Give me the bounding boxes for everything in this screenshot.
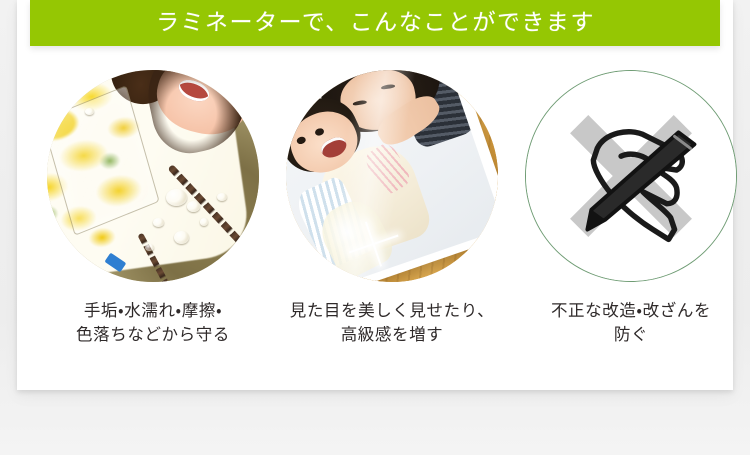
content-card: ラミネーターで、こんなことができます bbox=[17, 0, 733, 390]
photo-water-drop bbox=[187, 201, 200, 212]
caption-line: 高級感を増す bbox=[290, 323, 495, 347]
feature-image-appearance bbox=[286, 70, 498, 282]
feature-item-protect: 手垢・水濡れ・摩擦・ 色落ちなどから守る bbox=[42, 70, 264, 347]
photo-laminated-family-photo-on-wood-table bbox=[286, 70, 498, 282]
feature-image-anti-tamper bbox=[525, 70, 737, 282]
caption-line: 不正な改造・改ざんを bbox=[551, 299, 711, 323]
caption-line: 防ぐ bbox=[551, 323, 711, 347]
photo-water-drop bbox=[166, 189, 187, 206]
feature-item-anti-tamper: 不正な改造・改ざんを 防ぐ bbox=[520, 70, 742, 347]
photo-water-drop bbox=[200, 218, 208, 225]
feature-caption-anti-tamper: 不正な改造・改ざんを 防ぐ bbox=[551, 299, 711, 347]
photo-water-drop bbox=[174, 231, 189, 244]
photo-water-drop bbox=[153, 218, 164, 226]
page-root: ラミネーターで、こんなことができます bbox=[0, 0, 750, 455]
feature-image-protect bbox=[47, 70, 259, 282]
section-header-banner: ラミネーターで、こんなことができます bbox=[30, 0, 720, 46]
caption-line: 見た目を美しく見せたり、 bbox=[290, 299, 495, 323]
feature-item-appearance: 見た目を美しく見せたり、 高級感を増す bbox=[281, 70, 503, 347]
feature-caption-protect: 手垢・水濡れ・摩擦・ 色落ちなどから守る bbox=[76, 299, 230, 347]
caption-line: 色落ちなどから守る bbox=[76, 323, 230, 347]
caption-line: 手垢・水濡れ・摩擦・ bbox=[76, 299, 230, 323]
feature-caption-appearance: 見た目を美しく見せたり、 高級感を増す bbox=[290, 299, 495, 347]
feature-list: 手垢・水濡れ・摩擦・ 色落ちなどから守る bbox=[42, 70, 742, 347]
illustration-hand-with-pen-crossed-out bbox=[526, 71, 736, 281]
photo-child-yellow-floral-dress-water-drops bbox=[47, 70, 259, 282]
banner-title: ラミネーターで、こんなことができます bbox=[155, 12, 595, 35]
photo-water-drop bbox=[85, 108, 93, 115]
